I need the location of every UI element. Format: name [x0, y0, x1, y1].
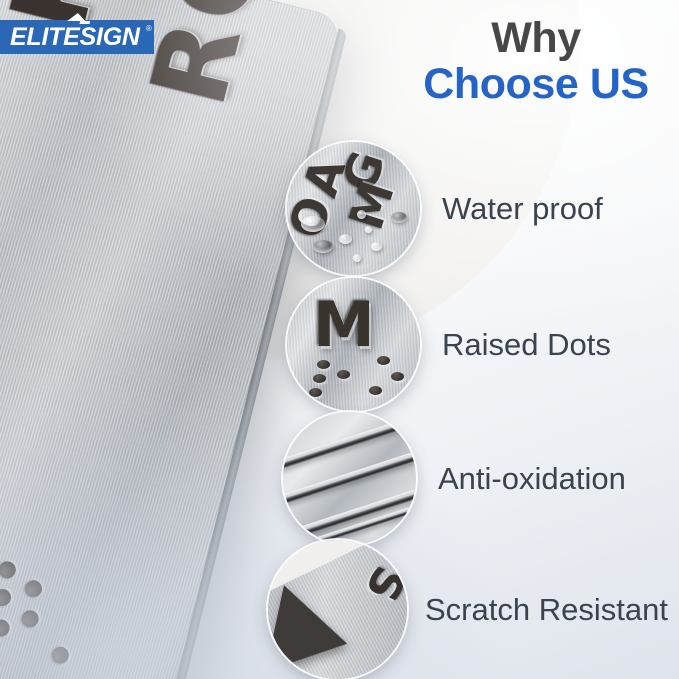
water-droplet-icon — [357, 210, 366, 219]
feature-label: Water proof — [442, 191, 603, 227]
feature-item-anti-oxidation[interactable]: Anti-oxidation — [283, 412, 626, 545]
sign-corner-scratch-thumbnail[interactable]: S — [268, 540, 407, 679]
feature-item-water-proof[interactable]: A G O M Water proof — [287, 142, 603, 275]
raised-braille-dots-thumbnail[interactable]: M — [287, 278, 420, 411]
braille-dot — [317, 360, 330, 369]
water-droplets-on-sign-thumbnail[interactable]: A G O M — [287, 142, 420, 275]
water-droplet-icon — [339, 234, 352, 244]
registered-trademark-mark: ® — [146, 24, 152, 33]
braille-dot — [377, 356, 390, 365]
braille-dot — [309, 388, 322, 397]
stacked-metal-sheets-thumbnail[interactable] — [283, 412, 416, 545]
headline-line-1: Why — [396, 16, 676, 61]
braille-dot — [369, 386, 382, 395]
headline-line-2: Choose US — [396, 61, 676, 107]
water-droplet-icon — [371, 242, 382, 251]
braille-dot — [337, 370, 350, 379]
water-droplet-icon — [391, 212, 407, 223]
thumb-letter: M — [313, 288, 375, 361]
water-droplet-icon — [353, 254, 361, 262]
braille-dot — [391, 372, 404, 381]
feature-label: Scratch Resistant — [425, 592, 668, 628]
water-droplet-icon — [301, 216, 325, 232]
water-droplet-icon — [313, 240, 333, 253]
product-feature-banner: RAGE ROOM ELITESIGN ® Why Choose US — [0, 0, 679, 679]
braille-dot — [313, 374, 326, 383]
brand-logo-text: ELITESIGN — [10, 23, 140, 52]
feature-item-scratch-resistant[interactable]: S Scratch Resistant — [268, 540, 668, 679]
graduation-cap-icon — [67, 13, 87, 21]
water-droplet-icon — [365, 226, 372, 233]
feature-item-raised-dots[interactable]: M Raised Dots — [287, 278, 611, 411]
page-title: Why Choose US — [396, 16, 676, 108]
brand-logo[interactable]: ELITESIGN ® — [0, 20, 154, 54]
feature-label: Raised Dots — [442, 327, 611, 363]
feature-label: Anti-oxidation — [438, 461, 626, 497]
